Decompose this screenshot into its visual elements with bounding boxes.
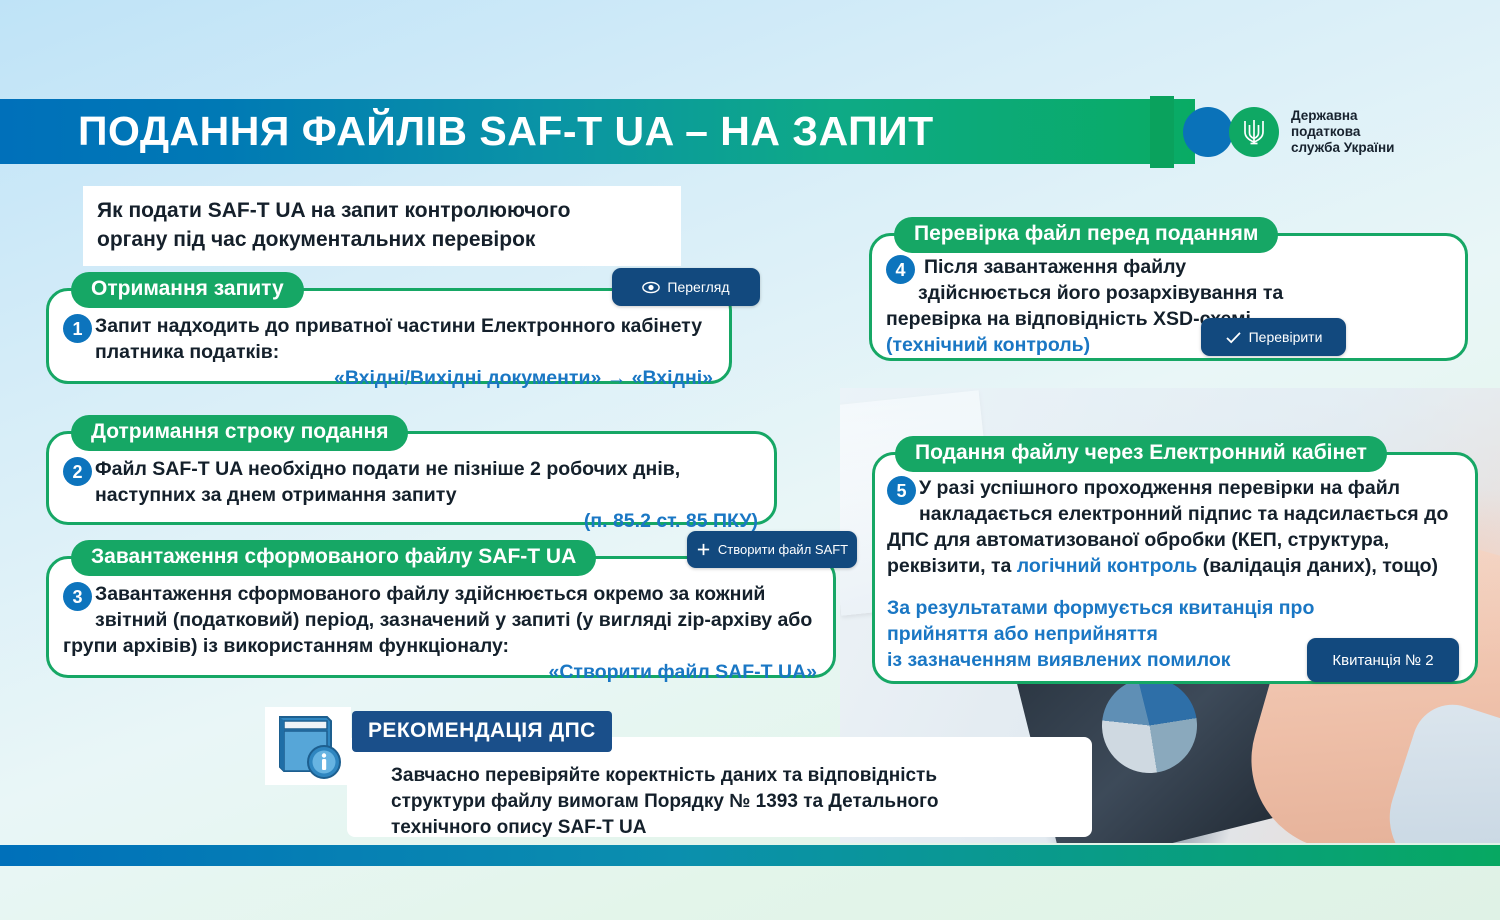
verify-button[interactable]: Перевірити <box>1201 318 1346 356</box>
step-4-text-line-2: здійснюється його розархівування та <box>886 280 1449 306</box>
page-title: ПОДАННЯ ФАЙЛІВ SAF-T UA – НА ЗАПИТ <box>78 108 934 155</box>
infographic-canvas: ПОДАННЯ ФАЙЛІВ SAF-T UA – НА ЗАПИТ Держа… <box>0 0 1500 920</box>
recommendation-label: РЕКОМЕНДАЦІЯ ДПС <box>352 711 612 752</box>
step-4-heading: Перевірка файл перед поданням <box>894 217 1278 253</box>
logo-text-line-2: податкова <box>1291 124 1394 140</box>
step-1-body: 1 Запит надходить до приватної частини Е… <box>49 291 729 405</box>
recommendation-text: Завчасно перевіряйте коректність даних т… <box>347 737 1092 837</box>
step-5-badge: 5 <box>887 476 916 505</box>
check-icon <box>1225 331 1242 344</box>
create-saft-file-label: Створити файл SAFT <box>718 542 848 557</box>
verify-button-label: Перевірити <box>1249 329 1323 345</box>
intro-statement: Як подати SAF-T UA на запит контролюючог… <box>83 186 681 266</box>
step-3-badge: 3 <box>63 582 92 611</box>
step-card-4: Перевірка файл перед поданням 4 Після за… <box>869 233 1468 361</box>
step-1-text: Запит надходить до приватної частини Еле… <box>95 315 702 363</box>
view-button[interactable]: Перегляд <box>612 268 760 306</box>
step-2-highlight: (п. 85.2 ст. 85 ПКУ) <box>63 508 758 534</box>
logo-text-line-1: Державна <box>1291 108 1394 124</box>
step-1-heading: Отримання запиту <box>71 272 304 308</box>
recommendation-line-1: Завчасно перевіряйте коректність даних т… <box>391 763 1074 789</box>
view-button-label: Перегляд <box>667 279 729 295</box>
ukraine-trident-icon <box>1241 116 1267 148</box>
step-3-body: 3 Завантаження сформованого файлу здійсн… <box>49 559 833 699</box>
logo-green-circle <box>1229 107 1279 157</box>
eye-icon <box>642 281 660 294</box>
step-2-badge: 2 <box>63 457 92 486</box>
step-4-text-line-1: Після завантаження файлу <box>924 254 1449 280</box>
receipt-button[interactable]: Квитанція № 2 <box>1307 638 1459 682</box>
logo-blue-circle <box>1183 107 1233 157</box>
intro-line-1: Як подати SAF-T UA на запит контролюючог… <box>97 196 667 225</box>
step-4-text-line-3: перевірка на відповідність XSD-схемі <box>886 306 1449 332</box>
step-1-badge: 1 <box>63 314 92 343</box>
header-banner: ПОДАННЯ ФАЙЛІВ SAF-T UA – НА ЗАПИТ <box>0 99 1195 164</box>
step-2-body: 2 Файл SAF-T UA необхідно подати не пізн… <box>49 434 774 548</box>
step-5-note-line-1: За результатами формується квитанція про <box>887 595 1463 621</box>
logo-text: Державна податкова служба України <box>1291 108 1394 156</box>
step-3-text: Завантаження сформованого файлу здійснює… <box>63 583 812 657</box>
step-5-text-part-2: (валідація даних), тощо) <box>1197 555 1438 577</box>
intro-line-2: органу під час документальних перевірок <box>97 225 667 254</box>
footer-banner <box>0 845 1500 866</box>
step-2-heading: Дотримання строку подання <box>71 415 408 451</box>
step-4-body: 4 Після завантаження файлу здійснюється … <box>872 236 1465 368</box>
plus-icon <box>696 542 711 557</box>
step-card-3: Завантаження сформованого файлу SAF-T UA… <box>46 556 836 678</box>
dps-logo: Державна податкова служба України <box>1150 96 1394 168</box>
receipt-button-label: Квитанція № 2 <box>1332 652 1433 669</box>
logo-text-line-3: служба України <box>1291 140 1394 156</box>
book-info-icon <box>265 707 351 785</box>
recommendation-line-3: технічного опису SAF-T UA <box>391 815 1074 841</box>
step-3-highlight: «Створити файл SAF-T UA» <box>63 659 817 685</box>
step-4-highlight: (технічний контроль) <box>886 332 1449 358</box>
step-1-highlight: «Вхідні/Вихідні документи» → «Вхідні» <box>63 365 713 391</box>
recommendation-line-2: структури файлу вимогам Порядку № 1393 т… <box>391 789 1074 815</box>
step-2-text: Файл SAF-T UA необхідно подати не пізніш… <box>95 458 680 506</box>
step-5-text-highlight: логічний контроль <box>1017 555 1198 577</box>
logo-green-bar <box>1150 96 1174 168</box>
step-4-badge: 4 <box>886 255 915 284</box>
step-card-2: Дотримання строку подання 2 Файл SAF-T U… <box>46 431 777 525</box>
step-5-heading: Подання файлу через Електронний кабінет <box>895 436 1387 472</box>
create-saft-file-button[interactable]: Створити файл SAFT <box>687 531 857 568</box>
step-3-heading: Завантаження сформованого файлу SAF-T UA <box>71 540 596 576</box>
